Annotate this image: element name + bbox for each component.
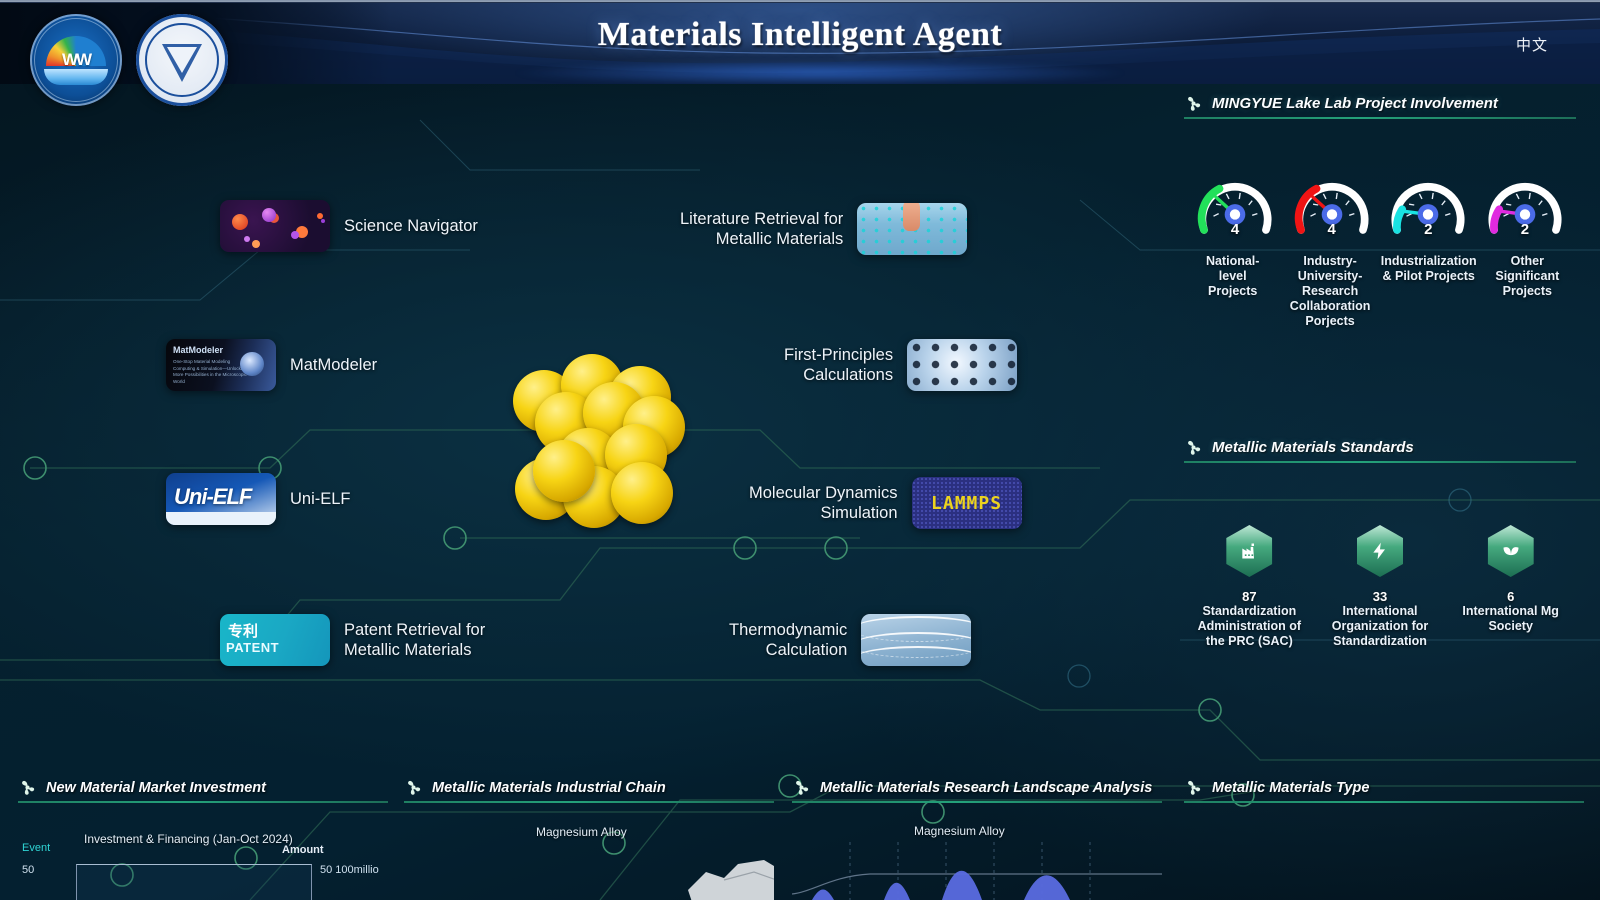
materials-type-chart: [1184, 816, 1584, 900]
gauge-value: 4: [1289, 221, 1375, 238]
projects-panel-header: MINGYUE Lake Lab Project Involvement: [1184, 94, 1576, 113]
gold-atom-cluster: [505, 352, 685, 527]
investment-chart-title: Investment & Financing (Jan-Oct 2024): [84, 832, 293, 846]
factory-icon: [1239, 541, 1259, 561]
investment-bar: [76, 864, 312, 900]
standards-panel-title: Metallic Materials Standards: [1212, 439, 1414, 456]
gauge-caption: Other Significant Projects: [1479, 254, 1576, 329]
tool-science-navigator[interactable]: Science Navigator: [220, 200, 478, 252]
uni-elf-thumbnail: Uni-ELF: [166, 473, 276, 525]
research-landscape-chart: Magnesium Alloy: [792, 816, 1162, 900]
gauge-industry-university-research: 4: [1289, 171, 1375, 244]
lammps-thumbnail: LAMMPS: [912, 477, 1022, 529]
standard-count: 6: [1445, 589, 1576, 604]
gauge-value: 2: [1482, 221, 1568, 238]
gauge-row: 4 4: [1184, 171, 1576, 244]
projects-panel-title: MINGYUE Lake Lab Project Involvement: [1212, 95, 1498, 112]
propeller-icon: [1184, 778, 1203, 797]
area-chart: [792, 816, 1162, 900]
investment-chart: Investment & Financing (Jan-Oct 2024) Ev…: [18, 816, 388, 900]
standards-panel: Metallic Materials Standards 87 Standard…: [1184, 438, 1576, 649]
axis-label-amount: Amount: [282, 844, 324, 856]
axis-tick-right: 50 100millio: [320, 864, 379, 876]
first-principles-thumbnail: [907, 339, 1017, 391]
bottom-panel-title: Metallic Materials Industrial Chain: [432, 780, 666, 796]
panel-divider: [404, 801, 774, 803]
app-header: Materials Intelligent Agent 中文: [0, 0, 1600, 84]
leaf-icon: [1501, 541, 1521, 561]
panel-metallic-materials-type: Metallic Materials Type: [1184, 778, 1584, 900]
leaf-badge: [1488, 525, 1534, 577]
gauge-other-significant: 2: [1482, 171, 1568, 244]
gauge-caption: Industry- University- Research Collabora…: [1281, 254, 1378, 329]
tool-patent-retrieval[interactable]: 专利 PATENT Patent Retrieval for Metallic …: [220, 614, 485, 666]
tool-uni-elf[interactable]: Uni-ELF Uni-ELF: [166, 473, 351, 525]
standard-name: Standardization Administration of the PR…: [1184, 604, 1315, 649]
gauge-caption: Industrialization & Pilot Projects: [1379, 254, 1479, 329]
china-map-shape: [654, 838, 774, 900]
bottom-panel-header: Metallic Materials Research Landscape An…: [792, 778, 1162, 797]
panel-research-landscape-analysis: Metallic Materials Research Landscape An…: [792, 778, 1162, 900]
tool-molecular-dynamics[interactable]: Molecular Dynamics Simulation LAMMPS: [749, 477, 1022, 529]
projects-panel: MINGYUE Lake Lab Project Involvement 4: [1184, 94, 1576, 329]
page-title: Materials Intelligent Agent: [0, 16, 1600, 54]
panel-metallic-materials-industrial-chain: Metallic Materials Industrial Chain Magn…: [404, 778, 774, 900]
science-navigator-thumbnail: [220, 200, 330, 252]
lammps-logo-text: LAMMPS: [912, 477, 1022, 529]
panel-divider: [1184, 801, 1584, 803]
gauge-caption: National- level Projects: [1184, 254, 1281, 329]
bottom-panel-header: Metallic Materials Type: [1184, 778, 1584, 797]
tool-label: Uni-ELF: [290, 489, 351, 509]
tool-literature-retrieval[interactable]: Literature Retrieval for Metallic Materi…: [680, 203, 967, 255]
panel-divider: [1184, 461, 1576, 463]
matmodeler-thumbnail: MatModeler One-Stop Material Modeling Co…: [166, 339, 276, 391]
tool-label: Literature Retrieval for Metallic Materi…: [680, 209, 843, 249]
uni-elf-thumb-text: Uni-ELF: [174, 484, 251, 510]
bottom-panel-header: New Material Market Investment: [18, 778, 388, 797]
chongqing-university-logo: [136, 14, 228, 106]
standard-count: 33: [1315, 589, 1446, 604]
tool-first-principles[interactable]: First-Principles Calculations: [784, 339, 1017, 391]
propeller-icon: [1184, 438, 1203, 457]
propeller-icon: [404, 778, 423, 797]
bolt-icon: [1370, 541, 1390, 561]
standard-iso[interactable]: 33 International Organization for Standa…: [1315, 525, 1446, 649]
gauge-national-level: 4: [1192, 171, 1278, 244]
matmodeler-thumb-title: MatModeler: [173, 345, 223, 355]
patent-retrieval-thumbnail: 专利 PATENT: [220, 614, 330, 666]
patent-thumb-cn: 专利: [228, 620, 258, 641]
standards-row: 87 Standardization Administration of the…: [1184, 525, 1576, 649]
axis-tick-left: 50: [22, 864, 34, 876]
header-glow: [380, 58, 1260, 84]
literature-retrieval-thumbnail: [857, 203, 967, 255]
gauge-value: 4: [1192, 221, 1278, 238]
matmodeler-orb-icon: [240, 352, 264, 376]
thermodynamic-thumbnail: [861, 614, 971, 666]
tool-label: Science Navigator: [344, 216, 478, 236]
tool-label: Patent Retrieval for Metallic Materials: [344, 620, 485, 660]
industrial-chain-map: Magnesium Alloy: [404, 816, 774, 900]
factory-badge: [1226, 525, 1272, 577]
bolt-badge: [1357, 525, 1403, 577]
panel-divider: [18, 801, 388, 803]
gauge-industrialization-pilot: 2: [1385, 171, 1471, 244]
logo-group: WW: [30, 14, 228, 106]
bottom-panel-header: Metallic Materials Industrial Chain: [404, 778, 774, 797]
standard-sac[interactable]: 87 Standardization Administration of the…: [1184, 525, 1315, 649]
panel-divider: [792, 801, 1162, 803]
standard-name: International Organization for Standardi…: [1315, 604, 1446, 649]
bottom-panel-title: Metallic Materials Type: [1212, 780, 1369, 796]
bottom-panel-title: Metallic Materials Research Landscape An…: [820, 780, 1152, 796]
tool-label: First-Principles Calculations: [784, 345, 893, 385]
standard-name: International Mg Society: [1445, 604, 1576, 634]
standard-count: 87: [1184, 589, 1315, 604]
tool-label: Molecular Dynamics Simulation: [749, 483, 898, 523]
tool-label: MatModeler: [290, 355, 377, 375]
patent-thumb-en: PATENT: [226, 640, 279, 655]
panel-divider: [1184, 117, 1576, 119]
mingyue-lake-laboratory-logo: WW: [30, 14, 122, 106]
propeller-icon: [18, 778, 37, 797]
gauge-value: 2: [1385, 221, 1471, 238]
standard-mg-society[interactable]: 6 International Mg Society: [1445, 525, 1576, 649]
tool-thermodynamic-calculation[interactable]: Thermodynamic Calculation: [729, 614, 971, 666]
panel-new-material-market-investment: New Material Market Investment Investmen…: [18, 778, 388, 900]
gauge-caption-row: National- level Projects Industry- Unive…: [1184, 254, 1576, 329]
axis-label-event: Event: [22, 842, 50, 854]
dashboard-root: Materials Intelligent Agent 中文 WW Scienc…: [0, 0, 1600, 900]
propeller-icon: [792, 778, 811, 797]
standards-panel-header: Metallic Materials Standards: [1184, 438, 1576, 457]
language-toggle[interactable]: 中文: [1516, 34, 1548, 55]
bottom-panel-title: New Material Market Investment: [46, 780, 266, 796]
tool-matmodeler[interactable]: MatModeler One-Stop Material Modeling Co…: [166, 339, 377, 391]
tool-label: Thermodynamic Calculation: [729, 620, 847, 660]
propeller-icon: [1184, 94, 1203, 113]
map-label: Magnesium Alloy: [536, 825, 627, 839]
